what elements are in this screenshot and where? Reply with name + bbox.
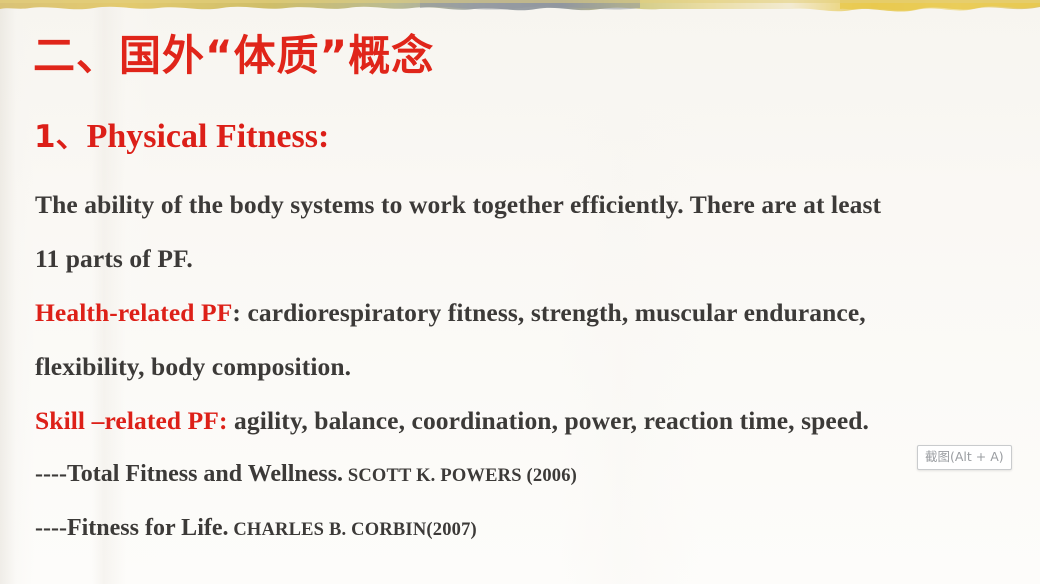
health-related-line-2: flexibility, body composition.	[35, 340, 1025, 394]
definition-line-2: 11 parts of PF.	[35, 232, 1025, 286]
citation-2: ----Fitness for Life. CHARLES B. CORBIN(…	[35, 502, 1025, 556]
definition-line-2-text: 11 parts of PF.	[35, 244, 193, 273]
definition-line-1-text: The ability of the body systems to work …	[35, 190, 881, 219]
body-text-block: The ability of the body systems to work …	[35, 178, 1025, 556]
citation-2-author: CHARLES B. CORBIN(2007)	[229, 520, 477, 540]
slide-content: 二、国外“体质”概念 1、Physical Fitness: The abili…	[0, 0, 1040, 584]
health-related-items-line-1: : cardiorespiratory fitness, strength, m…	[232, 298, 865, 327]
section-heading-enumerator: 1、	[34, 119, 87, 155]
citation-2-title: ----Fitness for Life.	[35, 515, 229, 541]
screenshot-shortcut-tooltip: 截图(Alt + A)	[917, 445, 1012, 470]
citation-1-author: SCOTT K. POWERS (2006)	[343, 466, 577, 486]
skill-related-items: agility, balance, coordination, power, r…	[228, 406, 869, 435]
section-heading: 1、Physical Fitness:	[34, 118, 329, 155]
citation-1-title: ----Total Fitness and Wellness.	[35, 461, 343, 487]
health-related-line-1: Health-related PF: cardiorespiratory fit…	[35, 286, 1025, 340]
definition-line-1: The ability of the body systems to work …	[35, 178, 1025, 232]
skill-related-label: Skill –related PF:	[35, 406, 228, 435]
health-related-items-line-2: flexibility, body composition.	[35, 352, 351, 381]
slide-canvas: 二、国外“体质”概念 1、Physical Fitness: The abili…	[0, 0, 1040, 584]
citation-1: ----Total Fitness and Wellness. SCOTT K.…	[35, 448, 1025, 502]
skill-related-line: Skill –related PF: agility, balance, coo…	[35, 394, 1025, 448]
page-title: 二、国外“体质”概念	[33, 33, 434, 79]
health-related-label: Health-related PF	[35, 298, 232, 327]
section-heading-label: Physical Fitness:	[87, 118, 330, 155]
